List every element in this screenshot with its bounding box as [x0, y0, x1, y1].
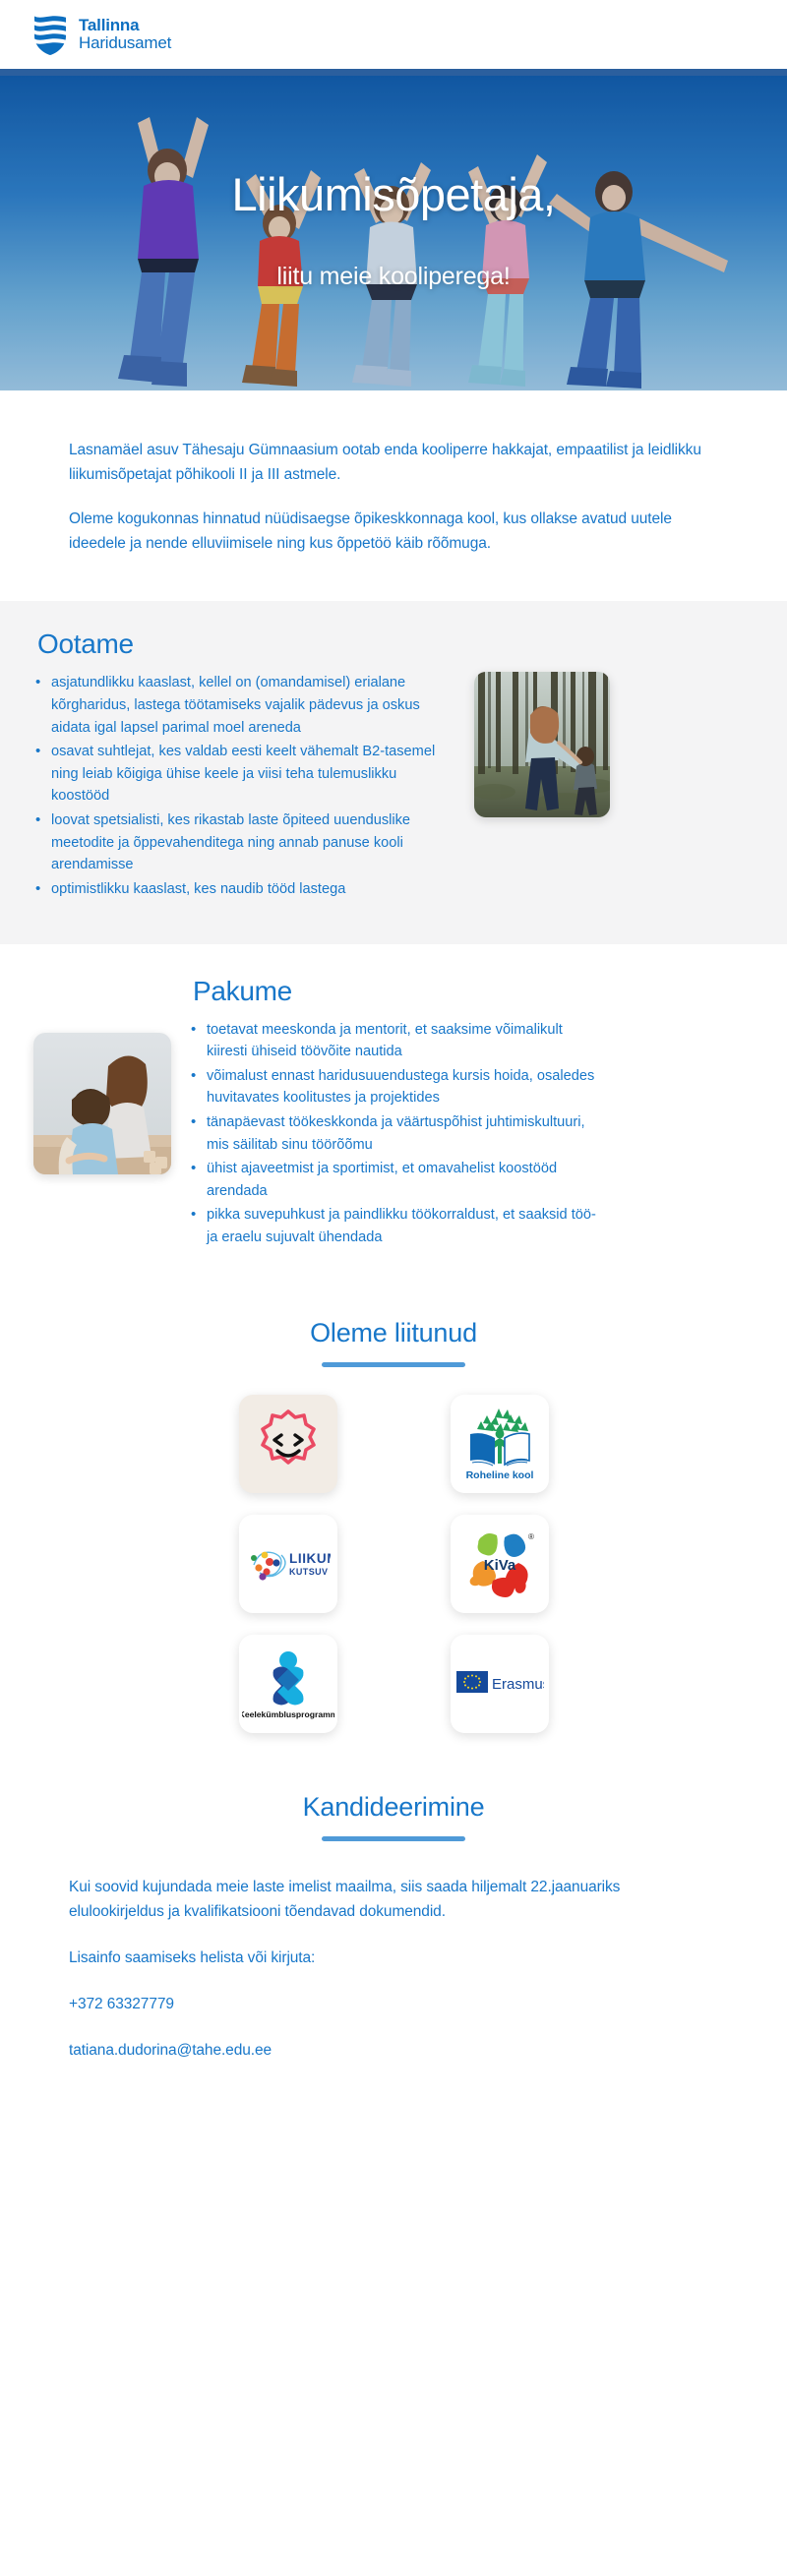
hero-banner: Liikumisõpetaja, liitu meie kooliperega! [0, 76, 787, 390]
roheline-kool-label: Roheline kool [465, 1469, 533, 1481]
list-item: pikka suvepuhkust ja paindlikku töökorra… [189, 1204, 602, 1248]
pakume-list: toetavat meeskonda ja mentorit, et saaks… [189, 1019, 602, 1249]
list-item: osavat suhtlejat, kes valdab eesti keelt… [33, 741, 456, 808]
brand-name-line2: Haridusamet [79, 34, 171, 52]
pakume-photo [33, 1033, 171, 1174]
tallinn-shield-icon [33, 13, 67, 56]
list-item: optimistlikku kaaslast, kes naudib tööd … [33, 878, 456, 901]
list-item: loovat spetsialisti, kes rikastab laste … [33, 809, 456, 876]
intro-paragraph-1: Lasnamäel asuv Tähesaju Gümnaasium ootab… [69, 438, 718, 487]
partner-logo-liikuma-kutsuv-kool[interactable]: LIIKUMA KUTSUV KOOL [239, 1515, 337, 1613]
partner-logo-kiusamisest-vabaks[interactable] [239, 1395, 337, 1493]
partner-logo-roheline-kool[interactable]: Roheline kool [451, 1395, 549, 1493]
partner-logo-keelekumblusprogramm[interactable]: Keelekümblusprogramm [239, 1635, 337, 1733]
hero-title: Liikumisõpetaja, [231, 169, 555, 220]
partner-logo-kiva[interactable]: KiVa ® [451, 1515, 549, 1613]
kiusamisest-vabaks-icon [252, 1408, 325, 1480]
apply-phone[interactable]: +372 63327779 [69, 1992, 718, 2016]
site-header: Tallinna Haridusamet [0, 0, 787, 69]
apply-paragraph-2: Lisainfo saamiseks helista või kirjuta: [69, 1946, 718, 1970]
header-divider [0, 69, 787, 76]
partners-heading: Oleme liitunud [0, 1318, 787, 1348]
hero-subtitle: liitu meie kooliperega! [276, 263, 510, 291]
apply-section: Kandideerimine Kui soovid kujundada meie… [0, 1767, 787, 2115]
partner-logo-grid: Roheline kool LIIKUMA [182, 1395, 605, 1733]
brand-logo[interactable]: Tallinna Haridusamet [33, 13, 171, 56]
keelekumblusprogramm-icon: Keelekümblusprogramm [242, 1645, 334, 1723]
list-item: ühist ajaveetmist ja sportimist, et omav… [189, 1158, 602, 1202]
apply-paragraph-1: Kui soovid kujundada meie laste imelist … [69, 1875, 718, 1924]
partners-section: Oleme liitunud [0, 1288, 787, 1767]
ootame-section: Ootame asjatundlikku kaaslast, kellel on… [0, 601, 787, 943]
kiva-icon: KiVa ® [461, 1526, 538, 1602]
roheline-kool-icon: Roheline kool [459, 1404, 540, 1484]
partner-logo-erasmus-plus[interactable]: Erasmus+ [451, 1635, 549, 1733]
pakume-heading: Pakume [193, 976, 754, 1007]
registered-mark: ® [528, 1532, 534, 1541]
erasmus-plus-icon: Erasmus+ [455, 1667, 544, 1701]
list-item: asjatundlikku kaaslast, kellel on (omand… [33, 672, 456, 739]
erasmus-label: Erasmus+ [492, 1676, 544, 1693]
apply-heading: Kandideerimine [0, 1792, 787, 1823]
intro-section: Lasnamäel asuv Tähesaju Gümnaasium ootab… [0, 390, 787, 601]
intro-paragraph-2: Oleme kogukonnas hinnatud nüüdisaegse õp… [69, 507, 718, 556]
list-item: võimalust ennast haridusuuendustega kurs… [189, 1065, 602, 1109]
keelekumblusprogramm-label: Keelekümblusprogramm [242, 1709, 334, 1719]
kutsuv-kool-label: KUTSUV KOOL [289, 1567, 331, 1577]
hero-text-overlay: Liikumisõpetaja, liitu meie kooliperega! [0, 76, 787, 390]
kiva-label: KiVa [483, 1557, 515, 1574]
ootame-photo [474, 672, 610, 817]
liikuma-kutsuv-kool-icon: LIIKUMA KUTSUV KOOL [246, 1543, 331, 1585]
ootame-list: asjatundlikku kaaslast, kellel on (omand… [33, 672, 456, 902]
pakume-section: Pakume toetavat meeskonda ja mentorit, e… [0, 944, 787, 1288]
liikuma-label: LIIKUMA [289, 1551, 331, 1566]
apply-email[interactable]: tatiana.dudorina@tahe.edu.ee [69, 2038, 718, 2063]
partners-divider [322, 1362, 465, 1367]
ootame-heading: Ootame [37, 629, 754, 660]
list-item: toetavat meeskonda ja mentorit, et saaks… [189, 1019, 602, 1063]
list-item: tänapäevast töökeskkonda ja väärtuspõhis… [189, 1111, 602, 1156]
brand-name-line1: Tallinna [79, 17, 171, 34]
